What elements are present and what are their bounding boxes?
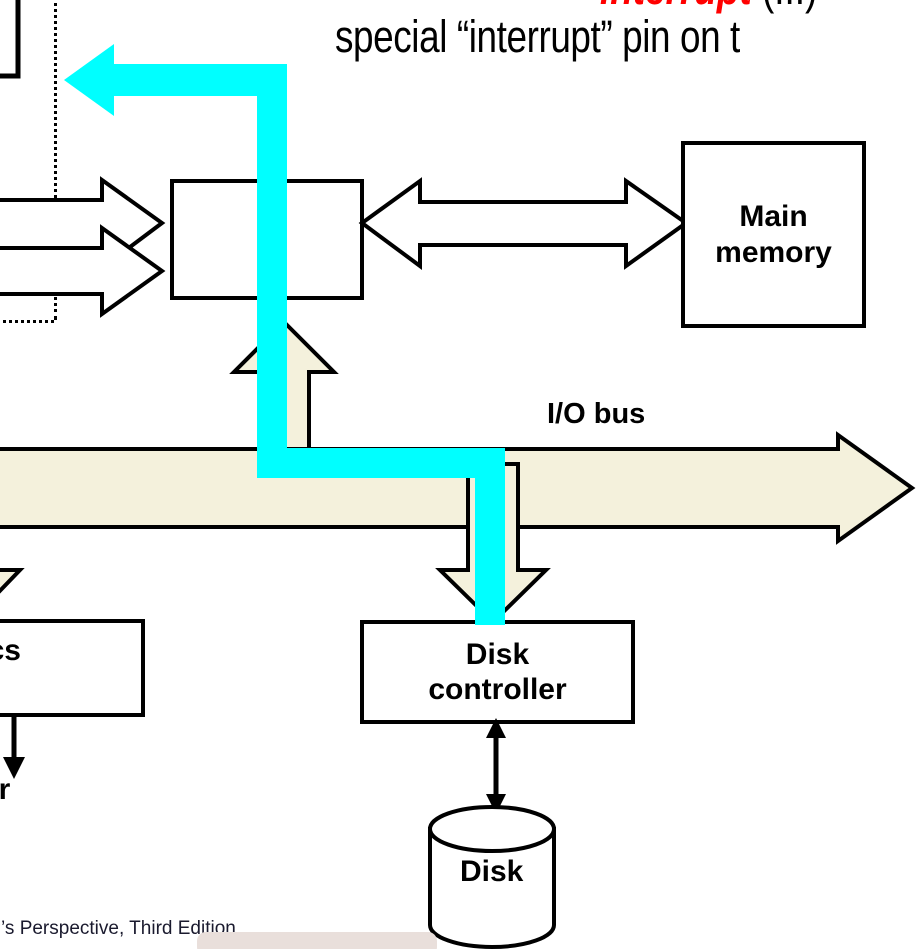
- io-bus-to-graphics-arrow: [0, 470, 70, 625]
- graphics-adapter-box: phics pter: [0, 619, 145, 717]
- headline-line-1-rest: (...): [752, 0, 818, 14]
- cpu-chip-boundary-bottom: [0, 320, 54, 323]
- slide-canvas: interrupt (...) special “interrupt” pin …: [0, 0, 917, 949]
- disk-controller-to-disk-arrow: [478, 718, 518, 816]
- cpu-register-file-box-partial: [0, 0, 22, 80]
- io-bus-to-disk-controller-arrow: [440, 470, 570, 625]
- headline-line-2: special “interrupt” pin on t: [335, 14, 740, 59]
- memory-bus-arrow: [360, 178, 690, 303]
- main-memory-label: Main memory: [715, 199, 832, 270]
- monitor-label: itor: [0, 773, 10, 807]
- graphics-adapter-label: phics pter: [0, 633, 21, 704]
- io-bridge-box: [170, 179, 364, 300]
- io-bus-to-bridge-arrow: [230, 320, 340, 460]
- headline-line-1: interrupt (...): [600, 0, 817, 11]
- pink-overlay-bar: [197, 932, 437, 949]
- disk-label: Disk: [460, 855, 523, 889]
- disk-controller-box: Disk controller: [360, 620, 635, 724]
- main-memory-box: Main memory: [681, 141, 866, 328]
- disk-controller-label: Disk controller: [428, 637, 566, 708]
- system-bus-arrow-left: [0, 178, 180, 303]
- io-bus-label: I/O bus: [547, 398, 645, 431]
